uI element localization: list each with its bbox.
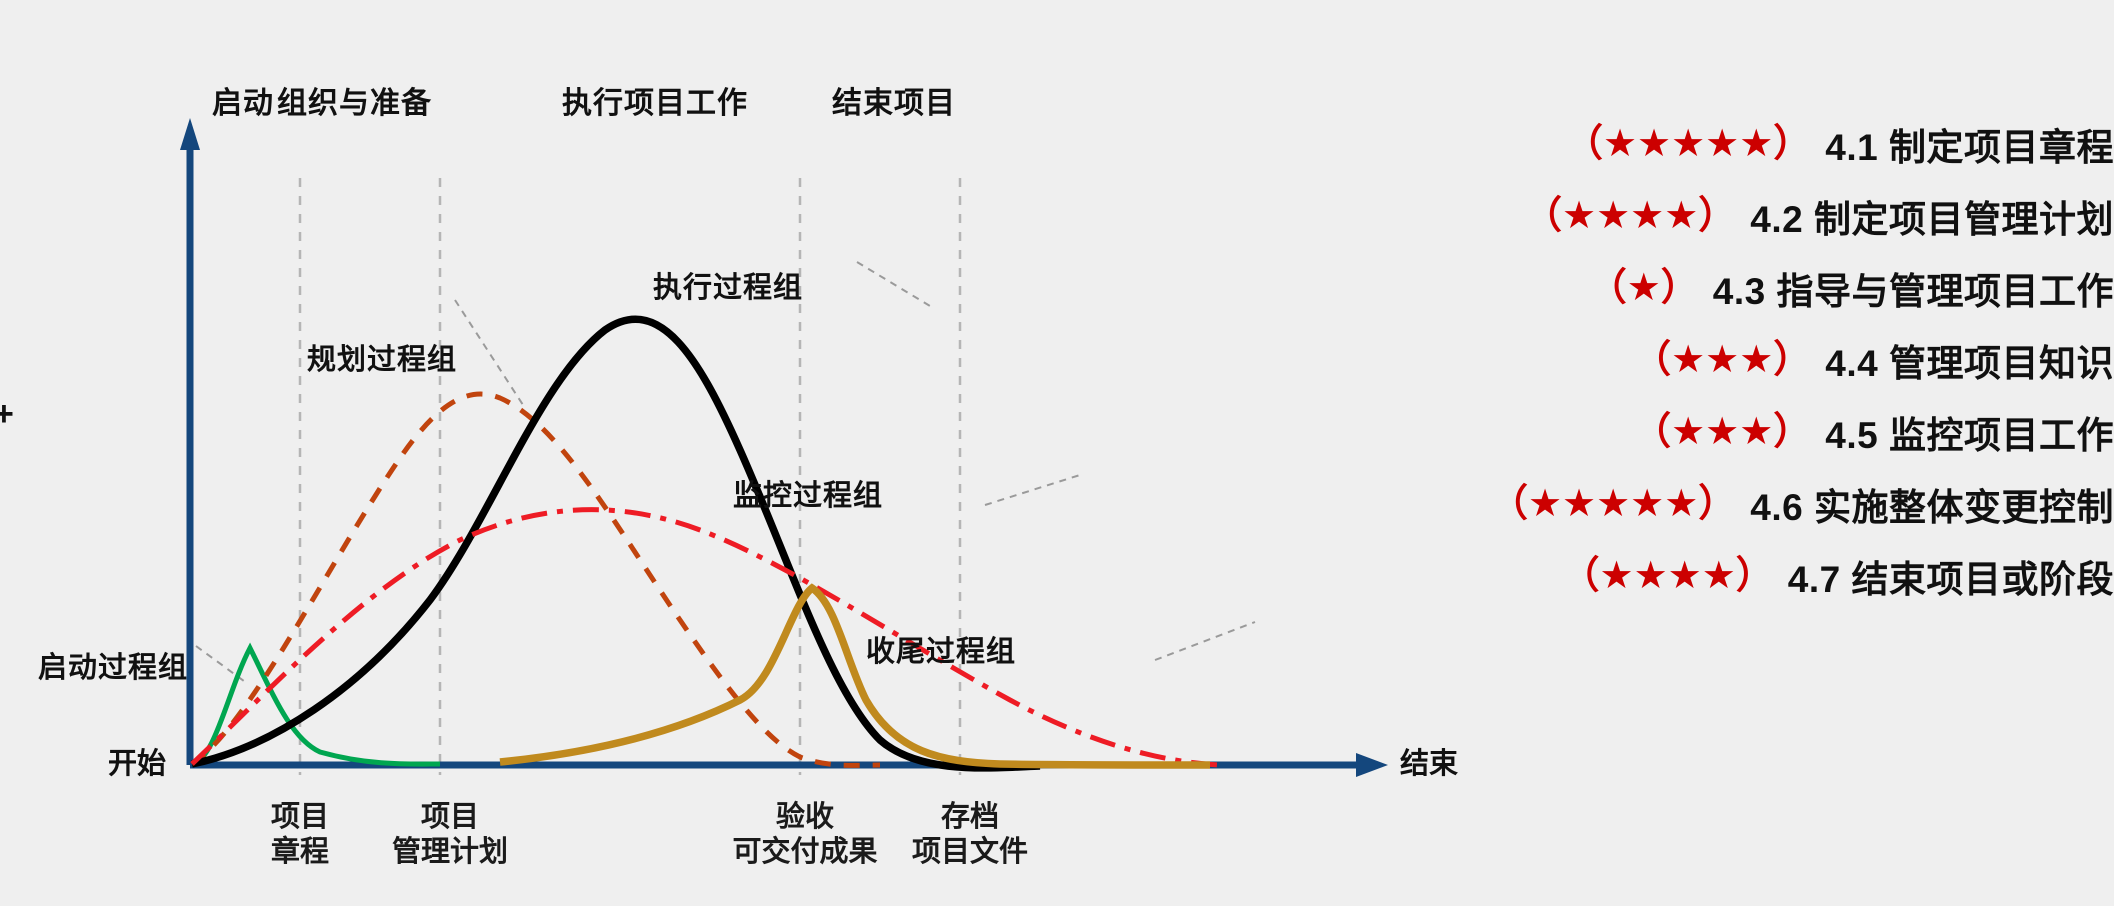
- milestone-accepted-deliverables: 验收 可交付成果: [732, 800, 877, 871]
- leader-monitoring: [985, 475, 1080, 505]
- curve-executing: [192, 319, 1040, 768]
- list-item-label: 4.5 监控项目工作: [1825, 405, 2114, 459]
- leader-executing: [857, 262, 930, 306]
- leader-planning: [455, 300, 525, 408]
- leader-closing: [1155, 622, 1255, 660]
- star-rating: （★★★）: [1633, 341, 1811, 379]
- callout-leaders: [196, 262, 1255, 684]
- milestone-line-1: 项目: [271, 800, 329, 835]
- curve-label-monitoring: 监控过程组: [733, 472, 883, 514]
- list-item[interactable]: （★★★★★） 4.1 制定项目章程: [1380, 112, 2114, 176]
- curve-label-executing: 执行过程组: [653, 264, 803, 306]
- curve-planning: [192, 394, 880, 765]
- milestone-line-2: 可交付成果: [732, 835, 877, 870]
- process-group-chart: 启动 组织与准备 执行项目工作 结束项目 启动过程组 规划过程组 执行过程组 监…: [0, 0, 1400, 906]
- list-item-label: 4.4 管理项目知识: [1825, 333, 2114, 387]
- milestone-archived-documents: 存档 项目文件: [912, 800, 1028, 871]
- list-item-label: 4.6 实施整体变更控制: [1750, 477, 2114, 531]
- list-item-label: 4.3 指导与管理项目工作: [1713, 261, 2114, 315]
- list-item[interactable]: （★★★★） 4.7 结束项目或阶段: [1380, 544, 2114, 608]
- axis-end-label: 结束: [1400, 740, 1458, 782]
- milestone-line-1: 验收: [732, 800, 877, 835]
- chart-svg: [0, 0, 1400, 906]
- list-item[interactable]: （★） 4.3 指导与管理项目工作: [1380, 256, 2114, 320]
- list-item-label: 4.2 制定项目管理计划: [1750, 189, 2114, 243]
- phase-label-initiating: 启动: [212, 78, 274, 122]
- curve-label-closing: 收尾过程组: [866, 628, 1016, 670]
- phase-label-organizing: 组织与准备: [277, 78, 432, 122]
- axis-start-label: 开始: [108, 740, 166, 782]
- star-rating: （★）: [1589, 269, 1699, 307]
- milestone-line-2: 管理计划: [392, 835, 508, 870]
- star-rating: （★★★★）: [1524, 197, 1736, 235]
- process-list-panel: （★★★★★） 4.1 制定项目章程 （★★★★） 4.2 制定项目管理计划 （…: [1380, 112, 2114, 616]
- list-item-label: 4.7 结束项目或阶段: [1788, 549, 2114, 603]
- star-rating: （★★★）: [1633, 413, 1811, 451]
- list-item[interactable]: （★★★） 4.4 管理项目知识: [1380, 328, 2114, 392]
- curve-closing: [500, 588, 1210, 765]
- y-axis-arrowhead: [180, 118, 200, 150]
- milestone-line-2: 项目文件: [912, 835, 1028, 870]
- list-item[interactable]: （★★★★） 4.2 制定项目管理计划: [1380, 184, 2114, 248]
- milestone-line-1: 项目: [392, 800, 508, 835]
- phase-label-closing: 结束项目: [832, 78, 956, 122]
- curve-label-initiating: 启动过程组: [38, 644, 188, 686]
- list-item[interactable]: （★★★★★） 4.6 实施整体变更控制: [1380, 472, 2114, 536]
- curve-label-planning: 规划过程组: [307, 336, 457, 378]
- milestone-pm-plan: 项目 管理计划: [392, 800, 508, 871]
- diagram-root: 启动 组织与准备 执行项目工作 结束项目 启动过程组 规划过程组 执行过程组 监…: [0, 0, 2114, 906]
- list-item-label: 4.1 制定项目章程: [1825, 117, 2114, 171]
- star-rating: （★★★★★）: [1490, 485, 1736, 523]
- milestone-project-charter: 项目 章程: [271, 800, 329, 871]
- star-rating: （★★★★）: [1562, 557, 1774, 595]
- side-plus-mark: +: [0, 395, 14, 434]
- milestone-line-2: 章程: [271, 835, 329, 870]
- milestone-line-1: 存档: [912, 800, 1028, 835]
- star-rating: （★★★★★）: [1565, 125, 1811, 163]
- list-item[interactable]: （★★★） 4.5 监控项目工作: [1380, 400, 2114, 464]
- x-axis-arrowhead: [1356, 753, 1388, 777]
- phase-label-executing: 执行项目工作: [562, 78, 748, 122]
